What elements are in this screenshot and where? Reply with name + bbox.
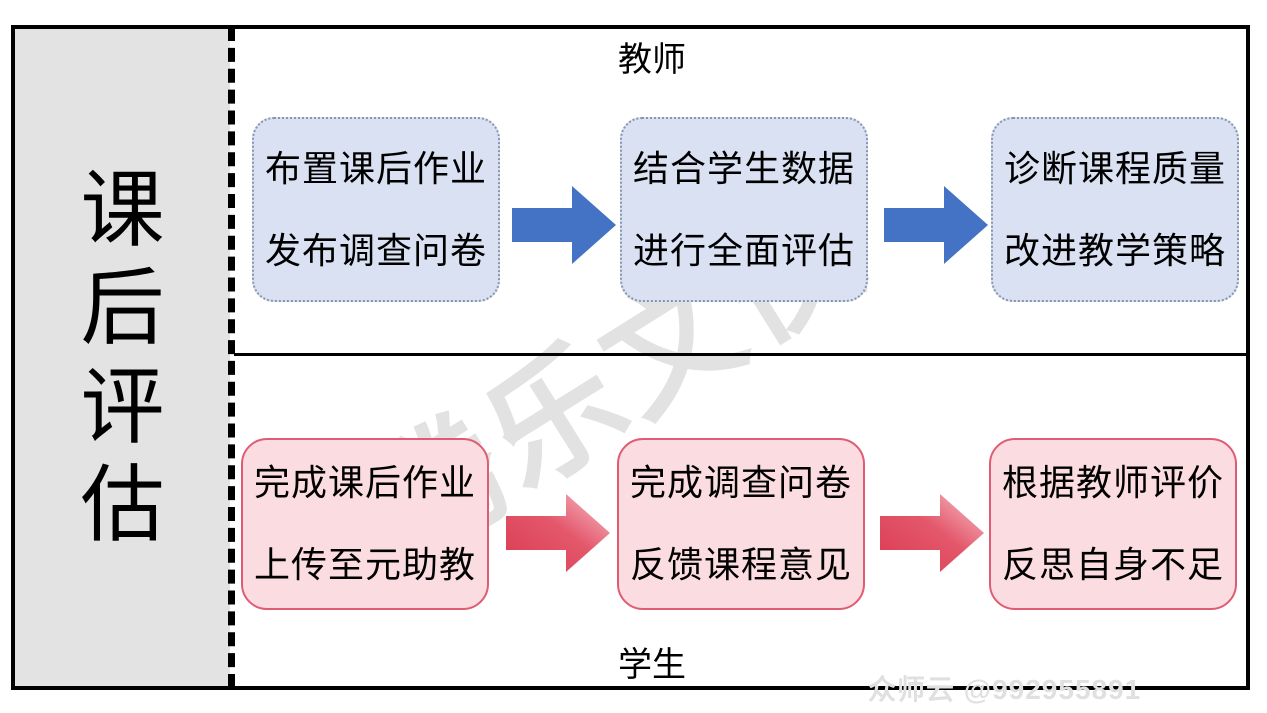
teacher-step-1-line2: 发布调查问卷 [265, 233, 487, 269]
teacher-step-3-line1: 诊断课程质量 [1004, 151, 1226, 187]
right-arrow-icon-teacher-2 [884, 186, 988, 264]
left-title-panel: 课 后 评 估 [15, 29, 230, 686]
diagram-canvas: 腾乐文仪 课 后 评 估 教师 学生 布置课后作业 发布调查问卷 结合学生数据 … [0, 0, 1267, 713]
teacher-step-1[interactable]: 布置课后作业 发布调查问卷 [252, 117, 500, 302]
student-step-3[interactable]: 根据教师评价 反思自身不足 [989, 438, 1237, 610]
lane-divider [234, 353, 1248, 356]
title-char-1: 课 [80, 161, 164, 259]
teacher-step-2[interactable]: 结合学生数据 进行全面评估 [620, 117, 868, 302]
student-step-3-line1: 根据教师评价 [1002, 465, 1224, 501]
student-step-1-line2: 上传至元助教 [254, 547, 476, 583]
lane-label-teacher: 教师 [618, 32, 686, 81]
teacher-step-2-line1: 结合学生数据 [633, 151, 855, 187]
title-char-4: 估 [80, 456, 164, 554]
right-arrow-icon-teacher-1 [512, 186, 616, 264]
title-char-3: 评 [80, 358, 164, 456]
page-title: 课 后 评 估 [15, 29, 230, 686]
student-step-1-line1: 完成课后作业 [254, 465, 476, 501]
title-char-2: 后 [80, 259, 164, 357]
right-arrow-icon-student-1 [506, 494, 610, 572]
lane-label-student: 学生 [618, 637, 686, 686]
teacher-step-1-line1: 布置课后作业 [265, 151, 487, 187]
teacher-step-2-line2: 进行全面评估 [633, 233, 855, 269]
right-arrow-icon-student-2 [880, 494, 984, 572]
student-step-2[interactable]: 完成调查问卷 反馈课程意见 [617, 438, 865, 610]
vertical-dashed-divider [228, 27, 235, 688]
student-step-2-line2: 反馈课程意见 [630, 547, 852, 583]
student-step-1[interactable]: 完成课后作业 上传至元助教 [241, 438, 489, 610]
student-step-3-line2: 反思自身不足 [1002, 547, 1224, 583]
teacher-step-3-line2: 改进教学策略 [1004, 233, 1226, 269]
student-step-2-line1: 完成调查问卷 [630, 465, 852, 501]
teacher-step-3[interactable]: 诊断课程质量 改进教学策略 [991, 117, 1239, 302]
